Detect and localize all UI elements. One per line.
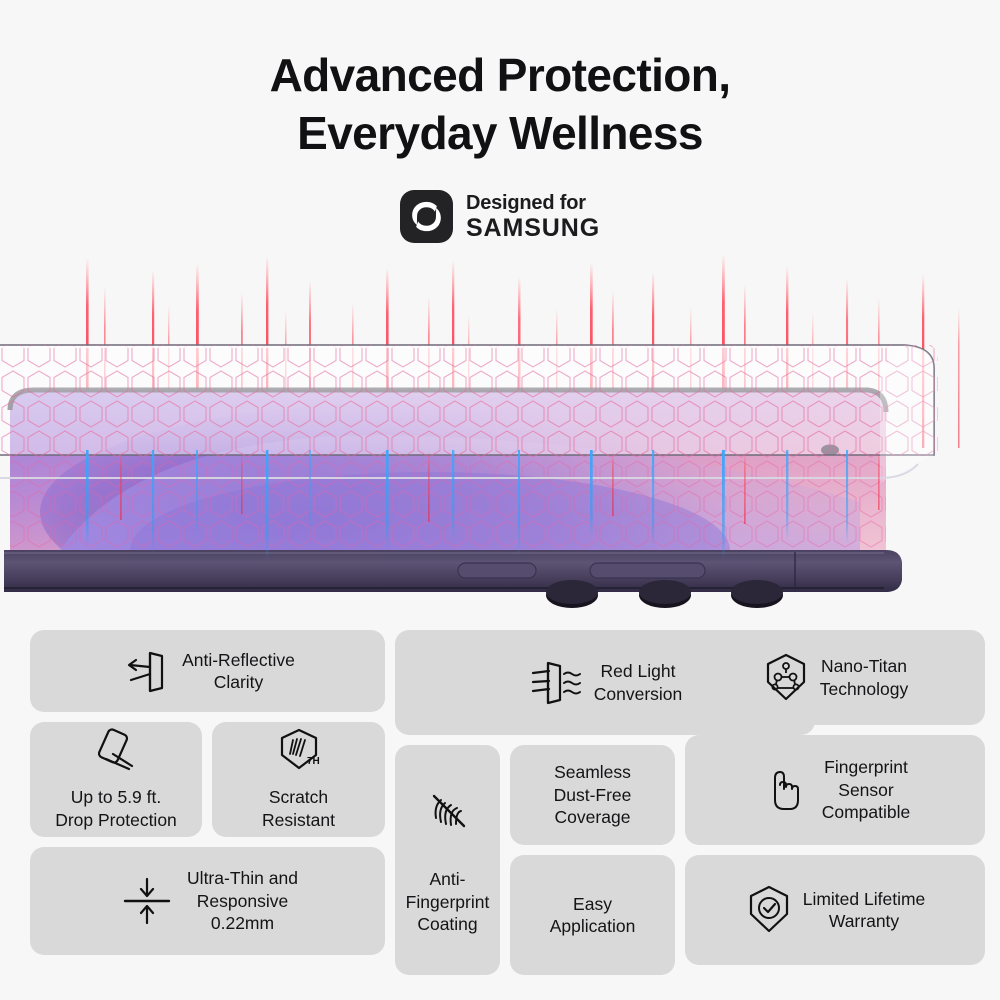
- feature-chip-drop-protection[interactable]: Up to 5.9 ft. Drop Protection: [30, 722, 202, 837]
- feature-chip-scratch-resistant[interactable]: 7H Scratch Resistant: [212, 722, 385, 837]
- feature-label: Seamless Dust-Free Coverage: [554, 761, 632, 828]
- feature-label: Ultra-Thin and Responsive 0.22mm: [187, 867, 298, 934]
- shield-check-icon: [745, 884, 793, 936]
- feature-chip-seamless-dust-free[interactable]: Seamless Dust-Free Coverage: [510, 745, 675, 845]
- headline-line-2: Everyday Wellness: [0, 104, 1000, 162]
- feature-chip-anti-fingerprint-coating[interactable]: Anti- Fingerprint Coating: [395, 745, 500, 975]
- screen-reflection-arrow-icon: [120, 645, 172, 697]
- feature-chip-limited-lifetime-warranty[interactable]: Limited Lifetime Warranty: [685, 855, 985, 965]
- feature-row-drop-scratch: Up to 5.9 ft. Drop Protection 7H Scratch…: [30, 722, 385, 837]
- feature-chips-grid: Anti-Reflective Clarity Up to 5.9 ft. Dr…: [30, 630, 985, 975]
- product-feature-page: Advanced Protection, Everyday Wellness D…: [0, 0, 1000, 1000]
- feature-chip-easy-application[interactable]: Easy Application: [510, 855, 675, 975]
- feature-label: Fingerprint Sensor Compatible: [822, 756, 911, 823]
- hero-product-image: [0, 250, 1000, 625]
- feature-chip-ultra-thin-responsive[interactable]: Ultra-Thin and Responsive 0.22mm: [30, 847, 385, 955]
- thickness-arrows-icon: [117, 873, 177, 929]
- power-button: [590, 563, 705, 578]
- feature-chip-nano-titan-technology[interactable]: Nano-Titan Technology: [685, 630, 985, 725]
- feature-label: Up to 5.9 ft. Drop Protection: [55, 786, 177, 831]
- shield-7h-scratch-icon: 7H: [276, 728, 322, 772]
- feature-label: Red Light Conversion: [594, 660, 683, 705]
- page-title: Advanced Protection, Everyday Wellness: [0, 46, 1000, 163]
- pointing-finger-icon: [760, 764, 812, 816]
- shield-molecule-icon: [762, 652, 810, 704]
- light-rays-to-waves-icon: [528, 657, 584, 709]
- feature-label: Anti- Fingerprint Coating: [406, 868, 490, 935]
- badge-samsung-label: SAMSUNG: [466, 216, 600, 241]
- badge-text-block: Designed for SAMSUNG: [466, 193, 600, 241]
- badge-designed-for-label: Designed for: [466, 193, 600, 213]
- phone-with-screen-protector-illustration: [0, 250, 1000, 625]
- volume-button: [458, 563, 536, 578]
- feature-label: Anti-Reflective Clarity: [182, 649, 295, 694]
- svg-text:7H: 7H: [307, 756, 320, 767]
- designed-for-samsung-badge: Designed for SAMSUNG: [0, 190, 1000, 243]
- feature-label: Limited Lifetime Warranty: [803, 888, 926, 933]
- feature-chip-anti-reflective-clarity[interactable]: Anti-Reflective Clarity: [30, 630, 385, 712]
- camera-lens-bumps: [546, 580, 783, 608]
- feature-chip-fingerprint-sensor-compatible[interactable]: Fingerprint Sensor Compatible: [685, 735, 985, 845]
- feature-label: Nano-Titan Technology: [820, 655, 909, 700]
- feature-label: Easy Application: [550, 893, 636, 938]
- feature-column-right: Nano-Titan Technology Fingerprint Sensor…: [685, 630, 985, 975]
- samsung-s-logo-icon: [400, 190, 453, 243]
- fingerprint-crossed-icon: [422, 784, 474, 836]
- feature-column-left: Anti-Reflective Clarity Up to 5.9 ft. Dr…: [30, 630, 385, 975]
- headline-line-1: Advanced Protection,: [270, 49, 731, 101]
- falling-phone-icon: [91, 728, 141, 772]
- feature-label: Scratch Resistant: [262, 786, 335, 831]
